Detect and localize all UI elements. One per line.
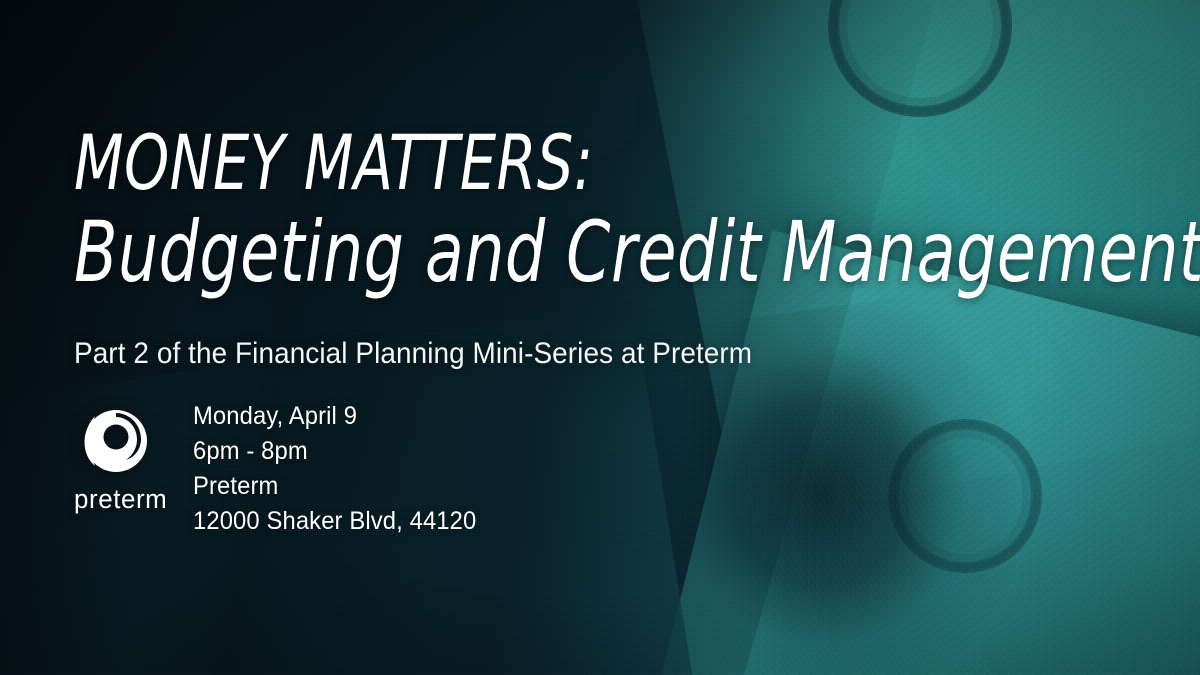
event-time: 6pm - 8pm — [193, 434, 476, 469]
banner-content: MONEY MATTERS: Budgeting and Credit Mana… — [0, 0, 1200, 675]
event-banner: MONEY MATTERS: Budgeting and Credit Mana… — [0, 0, 1200, 675]
event-venue: Preterm — [193, 469, 476, 504]
preterm-logo: preterm — [74, 404, 186, 514]
event-title-line-2: Budgeting and Credit Management — [74, 208, 1200, 296]
event-details: Monday, April 9 6pm - 8pm Preterm 12000 … — [193, 399, 491, 539]
event-address: 12000 Shaker Blvd, 44120 — [193, 504, 476, 539]
preterm-p-circle-icon — [78, 404, 148, 474]
preterm-wordmark: preterm — [74, 484, 182, 514]
event-date: Monday, April 9 — [193, 399, 476, 434]
event-subtitle: Part 2 of the Financial Planning Mini-Se… — [74, 336, 752, 372]
event-title-line-1: MONEY MATTERS: — [74, 124, 1200, 202]
event-title: MONEY MATTERS: Budgeting and Credit Mana… — [74, 124, 1200, 296]
